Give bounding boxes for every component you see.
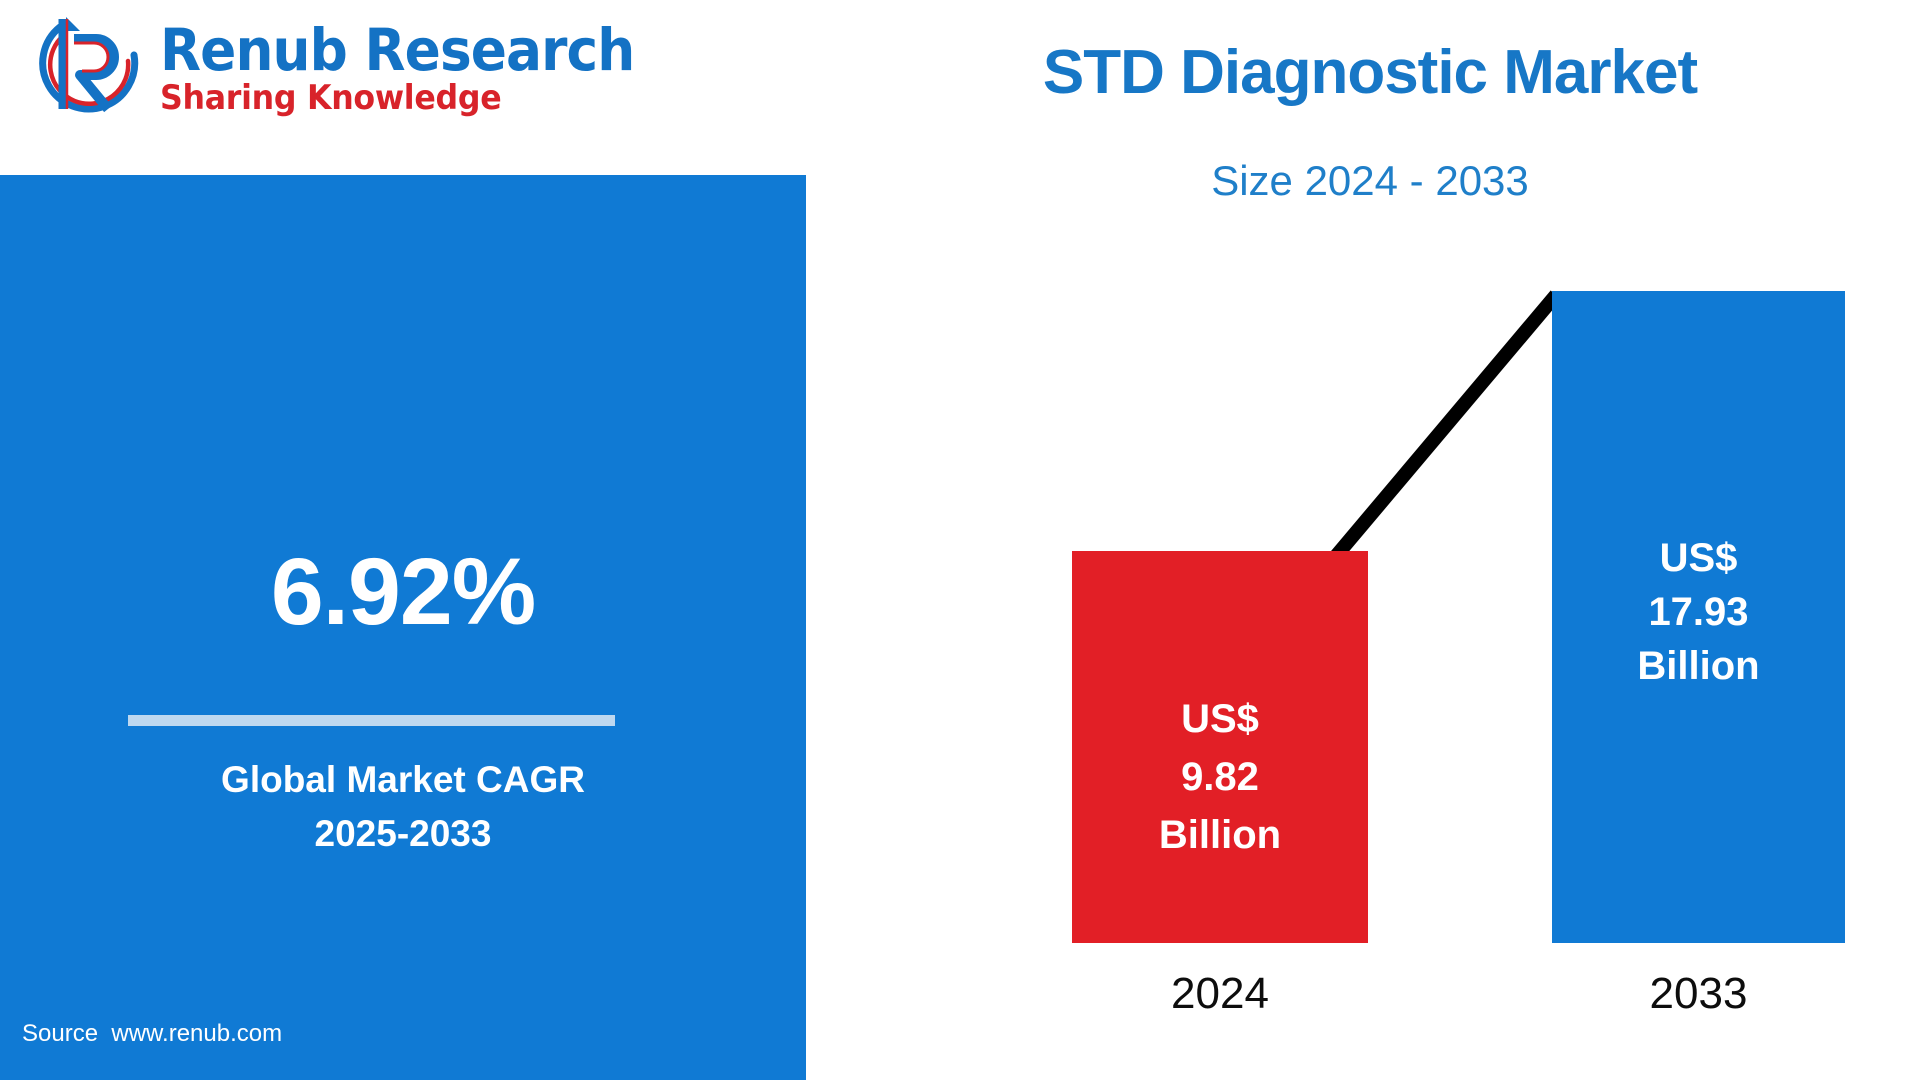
x-axis-tick-2033: 2033 [1532,972,1865,1016]
bar-2033-value-label: US$ 17.93 Billion [1637,531,1759,693]
bar-2033-amount: 17.93 [1637,585,1759,639]
bar-2033: US$ 17.93 Billion [1552,291,1845,943]
bar-2033-scale: Billion [1637,639,1759,693]
bar-2033-currency: US$ [1637,531,1759,585]
bar-2024-currency: US$ [1159,690,1281,748]
bar-2024-amount: 9.82 [1159,748,1281,806]
bar-2024-value-label: US$ 9.82 Billion [1159,690,1281,864]
bar-chart: US$ 9.82 Billion US$ 17.93 Billion 2024 … [0,0,1920,1080]
bar-2024-scale: Billion [1159,806,1281,864]
infographic-canvas: Renub Research Sharing Knowledge STD Dia… [0,0,1920,1080]
bar-2024: US$ 9.82 Billion [1072,551,1368,943]
x-axis-tick-2024: 2024 [1052,972,1388,1016]
